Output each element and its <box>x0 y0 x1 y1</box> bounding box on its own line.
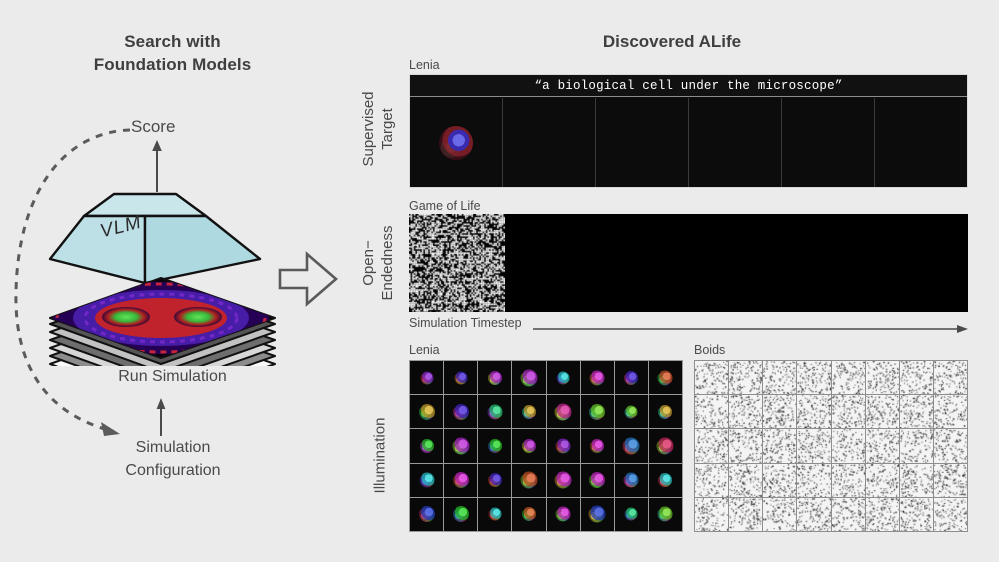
lenia-cell-render <box>522 405 536 419</box>
illumination-cell <box>547 464 580 497</box>
simulation-frame <box>596 98 689 187</box>
lenia-cell-render <box>520 369 537 386</box>
boids-cell <box>900 464 933 497</box>
boids-render <box>797 361 830 394</box>
supervised-frames <box>410 98 967 187</box>
boids-cell <box>729 361 762 394</box>
lenia-cell-render <box>624 371 638 385</box>
boids-render <box>763 361 796 394</box>
illumination-cell <box>649 498 682 531</box>
illumination-cell <box>581 395 614 428</box>
boids-cell <box>934 498 967 531</box>
boids-cell <box>934 361 967 394</box>
boids-render <box>832 464 865 497</box>
boids-cell <box>763 498 796 531</box>
boids-render <box>934 429 967 462</box>
lenia-cell-render <box>625 405 638 418</box>
simulation-layer-stack <box>48 276 278 366</box>
lenia-cell-render <box>453 404 469 420</box>
simulation-frame <box>410 98 503 187</box>
discovered-alife-panel: Discovered ALife Supervised Target Lenia… <box>345 0 999 562</box>
illumination-lenia-grid <box>409 360 683 532</box>
illumination-cell <box>478 395 511 428</box>
timestep-label: Simulation Timestep <box>409 316 522 330</box>
illumination-cell <box>581 361 614 394</box>
boids-render <box>866 395 899 428</box>
boids-render <box>763 395 796 428</box>
boids-render <box>934 464 967 497</box>
timestep-axis: Simulation Timestep <box>409 315 968 335</box>
supervised-target-filmstrip: “a biological cell under the microscope” <box>409 74 968 188</box>
supervised-sim-name: Lenia <box>409 58 440 72</box>
illumination-cell <box>547 361 580 394</box>
illumination-cell <box>547 498 580 531</box>
boids-render <box>900 429 933 462</box>
boids-cell <box>729 429 762 462</box>
illumination-cell <box>410 361 443 394</box>
boids-cell <box>797 361 830 394</box>
illumination-cell <box>444 464 477 497</box>
illumination-cell <box>444 361 477 394</box>
illumination-cell <box>649 464 682 497</box>
lenia-cell-render <box>555 403 572 420</box>
boids-render <box>797 395 830 428</box>
lenia-cell-render <box>589 506 606 523</box>
boids-render <box>934 361 967 394</box>
boids-cell <box>866 395 899 428</box>
left-title-line-2: Foundation Models <box>0 53 345 76</box>
boids-cell <box>695 429 728 462</box>
game-of-life-filmstrip <box>409 214 968 312</box>
boids-cell <box>695 498 728 531</box>
boids-render <box>695 429 728 462</box>
illumination-cell <box>478 498 511 531</box>
lenia-cell-render <box>439 126 473 160</box>
supervised-target-axis-label: Supervised Target <box>359 79 397 179</box>
simulation-configuration-label: Simulation Configuration <box>58 436 288 482</box>
lenia-cell-render <box>420 371 433 384</box>
boids-render <box>729 498 762 531</box>
lenia-cell-render <box>658 473 672 487</box>
boids-cell <box>763 361 796 394</box>
lenia-cell-render <box>419 473 434 488</box>
lenia-cell-render <box>556 438 571 453</box>
illumination-cell <box>444 395 477 428</box>
boids-cell <box>900 395 933 428</box>
illumination-cell <box>649 361 682 394</box>
boids-cell <box>832 429 865 462</box>
boids-cell <box>934 395 967 428</box>
illumination-cell <box>512 429 545 462</box>
boids-render <box>797 464 830 497</box>
boids-cell <box>866 429 899 462</box>
configuration-up-arrow-icon <box>155 398 167 436</box>
lenia-cell-render <box>453 472 469 488</box>
illumination-cell <box>547 429 580 462</box>
boids-cell <box>866 361 899 394</box>
illumination-cell <box>410 464 443 497</box>
boids-cell <box>695 464 728 497</box>
boids-cell <box>900 361 933 394</box>
boids-cell <box>797 498 830 531</box>
illumination-cell <box>581 464 614 497</box>
boids-cell <box>832 464 865 497</box>
block-arrow-right-icon <box>277 248 339 310</box>
lenia-cell-render <box>557 371 570 384</box>
boids-render <box>866 361 899 394</box>
illumination-cell <box>512 498 545 531</box>
boids-render <box>934 498 967 531</box>
lenia-cell-render <box>520 472 537 489</box>
boids-cell <box>797 395 830 428</box>
illumination-cell <box>512 464 545 497</box>
boids-render <box>832 498 865 531</box>
game-of-life-noise-render <box>409 214 505 312</box>
boids-cell <box>695 361 728 394</box>
illumination-boids-name: Boids <box>694 343 725 357</box>
lenia-cell-render <box>555 472 572 489</box>
lenia-cell-render <box>419 506 435 522</box>
illumination-cell <box>444 498 477 531</box>
boids-cell <box>900 429 933 462</box>
illumination-cell <box>547 395 580 428</box>
illumination-cell <box>478 429 511 462</box>
illumination-cell <box>649 395 682 428</box>
illumination-boids-grid <box>694 360 968 532</box>
left-panel-title: Search with Foundation Models <box>0 30 345 76</box>
open-endedness-sim-name: Game of Life <box>409 199 481 213</box>
boids-render <box>934 395 967 428</box>
boids-render <box>900 464 933 497</box>
lenia-cell-render <box>419 404 435 420</box>
illumination-cell <box>512 395 545 428</box>
boids-render <box>729 429 762 462</box>
boids-cell <box>832 498 865 531</box>
lenia-cell-render <box>658 507 673 522</box>
lenia-cell-render <box>556 507 571 522</box>
boids-render <box>832 361 865 394</box>
left-title-line-1: Search with <box>0 30 345 53</box>
boids-render <box>866 498 899 531</box>
lenia-cell-render <box>658 370 673 385</box>
lenia-cell-render <box>624 473 639 488</box>
boids-cell <box>729 395 762 428</box>
lenia-cell-render <box>488 371 502 385</box>
simulation-frame <box>875 98 967 187</box>
boids-render <box>729 464 762 497</box>
boids-cell <box>729 464 762 497</box>
lenia-cell-render <box>488 439 502 453</box>
illumination-cell <box>512 361 545 394</box>
lenia-cell-render <box>420 439 434 453</box>
illumination-cell <box>649 429 682 462</box>
boids-cell <box>866 464 899 497</box>
boids-render <box>695 498 728 531</box>
boids-cell <box>797 429 830 462</box>
illumination-cell <box>615 464 648 497</box>
boids-render <box>900 395 933 428</box>
lenia-cell-render <box>590 439 604 453</box>
lenia-cell-render <box>589 404 605 420</box>
lenia-cell-render <box>590 370 605 385</box>
prompt-text: “a biological cell under the microscope” <box>410 75 967 97</box>
boids-render <box>695 464 728 497</box>
illumination-cell <box>410 395 443 428</box>
illumination-cell <box>581 429 614 462</box>
timestep-arrow-icon <box>533 324 968 334</box>
illumination-cell <box>444 429 477 462</box>
boids-render <box>763 429 796 462</box>
boids-cell <box>763 429 796 462</box>
run-simulation-label: Run Simulation <box>0 368 345 386</box>
illumination-cell <box>410 498 443 531</box>
illumination-cell <box>478 464 511 497</box>
sim-config-line-1: Simulation <box>58 436 288 459</box>
boids-cell <box>695 395 728 428</box>
simulation-frame <box>503 98 596 187</box>
simulation-frame <box>782 98 875 187</box>
simulation-frame <box>689 98 782 187</box>
lenia-cell-render <box>658 405 672 419</box>
lenia-cell-render <box>522 439 536 453</box>
illumination-cell <box>410 429 443 462</box>
boids-render <box>866 429 899 462</box>
boids-cell <box>934 464 967 497</box>
boids-render <box>695 361 728 394</box>
boids-render <box>797 498 830 531</box>
illumination-cell <box>615 361 648 394</box>
lenia-cell-render <box>625 508 638 521</box>
boids-cell <box>832 395 865 428</box>
boids-render <box>763 464 796 497</box>
lenia-cell-render <box>487 404 502 419</box>
illumination-cell <box>615 429 648 462</box>
lenia-cell-render <box>488 508 501 521</box>
boids-render <box>729 361 762 394</box>
sim-config-line-2: Configuration <box>58 459 288 482</box>
boids-cell <box>900 498 933 531</box>
boids-cell <box>763 395 796 428</box>
boids-render <box>797 429 830 462</box>
illumination-cell <box>615 498 648 531</box>
boids-render <box>763 498 796 531</box>
boids-render <box>695 395 728 428</box>
boids-cell <box>832 361 865 394</box>
boids-render <box>832 429 865 462</box>
lenia-cell-render <box>488 473 502 487</box>
lenia-cell-render <box>657 437 674 454</box>
illumination-axis-label: Illumination <box>371 391 390 521</box>
open-endedness-axis-label: Open− Endedness <box>359 208 397 318</box>
boids-render <box>900 498 933 531</box>
figure-root: Search with Foundation Models Score VLM <box>0 0 999 562</box>
boids-cell <box>729 498 762 531</box>
lenia-cell-render <box>623 437 640 454</box>
illumination-cell <box>581 498 614 531</box>
lenia-cell-render <box>453 506 469 522</box>
boids-render <box>866 464 899 497</box>
illumination-cell <box>615 395 648 428</box>
boids-render <box>832 395 865 428</box>
lenia-cell-render <box>452 437 469 454</box>
boids-render <box>900 361 933 394</box>
illumination-lenia-name: Lenia <box>409 343 440 357</box>
boids-render <box>729 395 762 428</box>
boids-cell <box>763 464 796 497</box>
illumination-cell <box>478 361 511 394</box>
lenia-cell-render <box>522 507 536 521</box>
boids-cell <box>797 464 830 497</box>
boids-cell <box>866 498 899 531</box>
boids-cell <box>934 429 967 462</box>
right-panel-title: Discovered ALife <box>345 32 999 52</box>
lenia-cell-render <box>454 371 467 384</box>
lenia-cell-render <box>589 472 605 488</box>
